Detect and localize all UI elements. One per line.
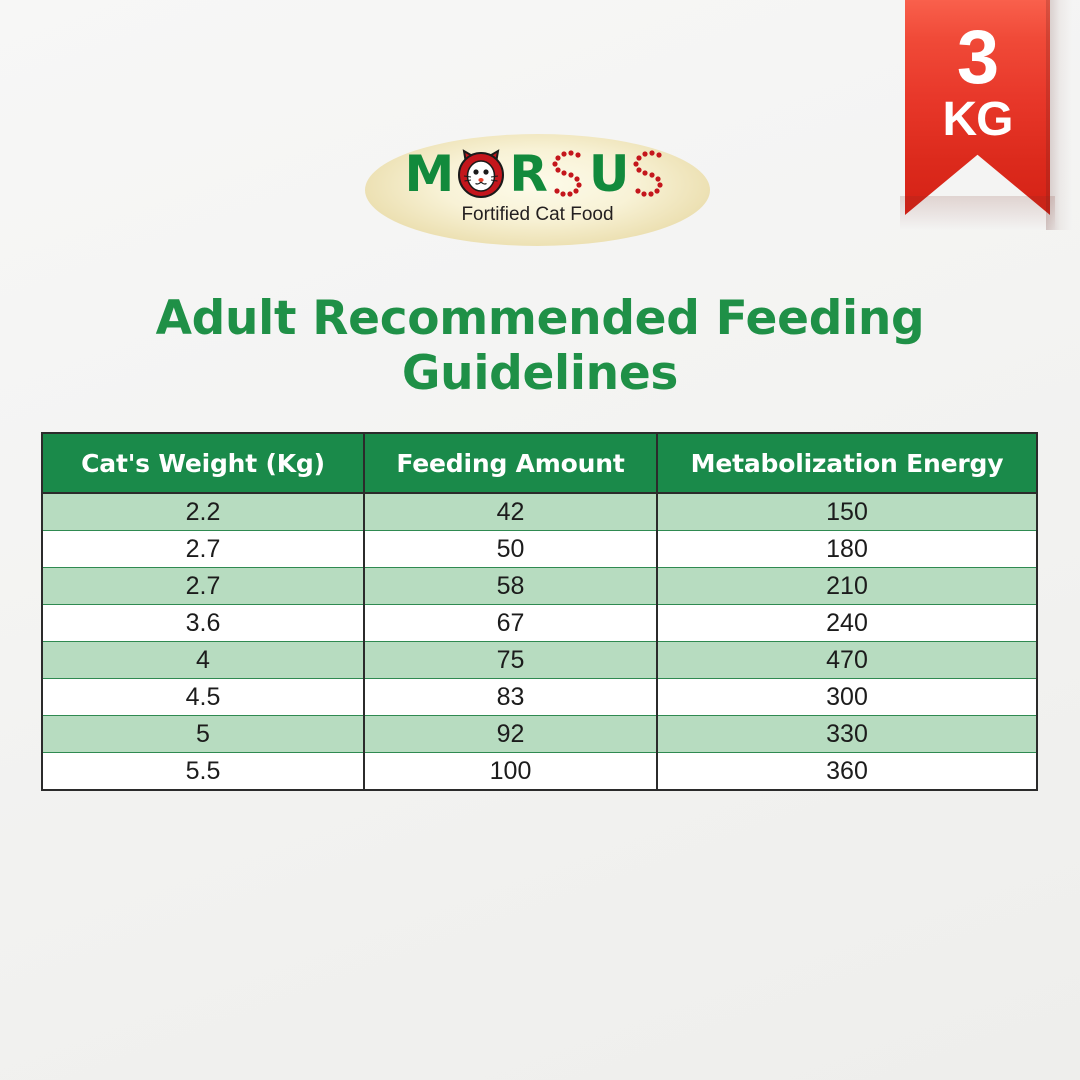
cell-feeding-amount: 75	[364, 642, 657, 679]
column-header-weight: Cat's Weight (Kg)	[42, 433, 364, 493]
cell-metabolization-energy: 330	[657, 716, 1037, 753]
cell-metabolization-energy: 300	[657, 679, 1037, 716]
cell-metabolization-energy: 240	[657, 605, 1037, 642]
table-header-row: Cat's Weight (Kg) Feeding Amount Metabol…	[42, 433, 1037, 493]
brand-letter-r: R	[509, 149, 547, 199]
brand-letter-u: U	[589, 149, 629, 199]
cell-metabolization-energy: 470	[657, 642, 1037, 679]
cell-feeding-amount: 83	[364, 679, 657, 716]
cell-weight: 2.2	[42, 493, 364, 531]
table-body: 2.2 42 150 2.7 50 180 2.7 58 210 3.6 67 …	[42, 493, 1037, 790]
table-row: 2.7 50 180	[42, 531, 1037, 568]
cell-feeding-amount: 42	[364, 493, 657, 531]
cell-metabolization-energy: 150	[657, 493, 1037, 531]
cell-feeding-amount: 100	[364, 753, 657, 791]
paw-print-letter-s-first	[548, 147, 588, 201]
badge-weight-value: 3	[957, 22, 998, 94]
cell-metabolization-energy: 210	[657, 568, 1037, 605]
cell-feeding-amount: 50	[364, 531, 657, 568]
cell-weight: 5.5	[42, 753, 364, 791]
cell-feeding-amount: 67	[364, 605, 657, 642]
table-row: 5.5 100 360	[42, 753, 1037, 791]
weight-badge-ribbon: 3 KG	[905, 0, 1050, 215]
table-row: 4.5 83 300	[42, 679, 1037, 716]
cell-metabolization-energy: 180	[657, 531, 1037, 568]
column-header-metabolization-energy: Metabolization Energy	[657, 433, 1037, 493]
table-row: 4 75 470	[42, 642, 1037, 679]
badge-weight-unit: KG	[943, 96, 1013, 144]
cat-face-icon	[454, 147, 508, 201]
brand-tagline: Fortified Cat Food	[365, 204, 710, 226]
column-header-feeding-amount: Feeding Amount	[364, 433, 657, 493]
page-title: Adult Recommended Feeding Guidelines	[90, 292, 990, 401]
feeding-guidelines-table: Cat's Weight (Kg) Feeding Amount Metabol…	[41, 432, 1038, 791]
table-row: 2.7 58 210	[42, 568, 1037, 605]
cell-weight: 3.6	[42, 605, 364, 642]
table-row: 2.2 42 150	[42, 493, 1037, 531]
paw-print-letter-s-second	[629, 147, 669, 201]
table-row: 5 92 330	[42, 716, 1037, 753]
cell-weight: 4	[42, 642, 364, 679]
brand-logo: M R	[365, 134, 710, 246]
cell-metabolization-energy: 360	[657, 753, 1037, 791]
brand-wordmark: M R	[365, 146, 710, 202]
ribbon-shadow-bottom	[900, 196, 1055, 230]
cell-weight: 2.7	[42, 568, 364, 605]
table-row: 3.6 67 240	[42, 605, 1037, 642]
brand-letter-m: M	[405, 149, 454, 199]
cell-weight: 5	[42, 716, 364, 753]
cell-feeding-amount: 58	[364, 568, 657, 605]
brand-letters: M R	[405, 147, 671, 201]
cell-feeding-amount: 92	[364, 716, 657, 753]
cell-weight: 2.7	[42, 531, 364, 568]
cell-weight: 4.5	[42, 679, 364, 716]
